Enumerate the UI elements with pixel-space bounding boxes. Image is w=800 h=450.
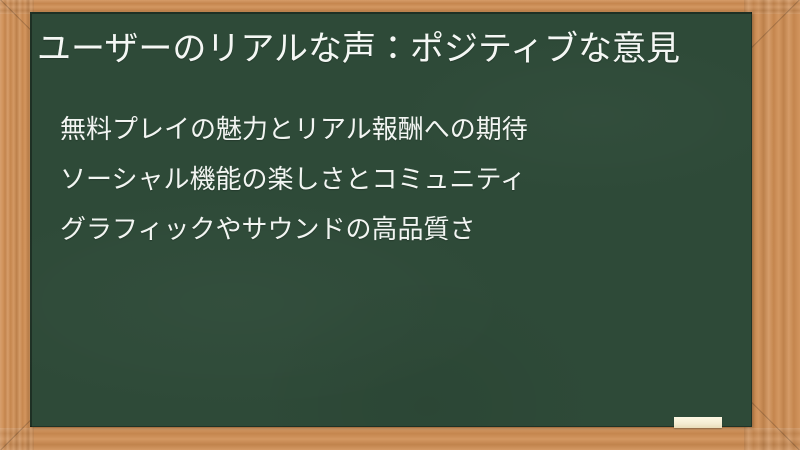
bullet-list: 無料プレイの魅力とリアル報酬への期待 ソーシャル機能の楽しさとコミュニティ グラ…: [37, 104, 742, 254]
frame-grain-bottom: [0, 428, 800, 450]
chalkboard-slide: ユーザーのリアルな声：ポジティブな意見 無料プレイの魅力とリアル報酬への期待 ソ…: [0, 0, 800, 450]
chalk-stick-icon: [674, 417, 722, 428]
chalkboard-surface: ユーザーのリアルな声：ポジティブな意見 無料プレイの魅力とリアル報酬への期待 ソ…: [30, 12, 752, 427]
board-content: ユーザーのリアルな声：ポジティブな意見 無料プレイの魅力とリアル報酬への期待 ソ…: [30, 12, 752, 427]
list-item: 無料プレイの魅力とリアル報酬への期待: [60, 104, 742, 154]
list-item: グラフィックやサウンドの高品質さ: [60, 204, 742, 254]
frame-grain-right: [744, 0, 800, 450]
list-item: ソーシャル機能の楽しさとコミュニティ: [60, 154, 742, 204]
frame-grain-left: [0, 0, 34, 450]
slide-title: ユーザーのリアルな声：ポジティブな意見: [37, 26, 742, 72]
